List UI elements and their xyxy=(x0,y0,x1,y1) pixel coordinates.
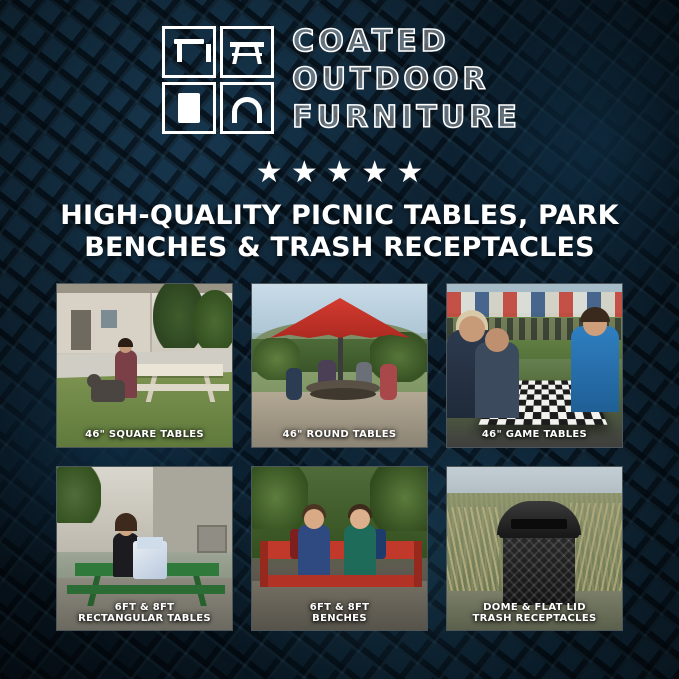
caption-trash-receptacles: DOME & FLAT LID TRASH RECEPTACLES xyxy=(447,597,622,630)
caption-benches-line-1: 6FT & 8FT xyxy=(256,602,423,613)
photo-square-tables xyxy=(57,284,232,447)
caption-rectangular-tables-line-1: 6FT & 8FT xyxy=(61,602,228,613)
product-card-rectangular-tables[interactable]: 6FT & 8FT RECTANGULAR TABLES xyxy=(56,466,233,631)
marketing-poster: COATED OUTDOOR FURNITURE ★ ★ ★ ★ ★ HIGH-… xyxy=(0,0,679,679)
product-card-benches[interactable]: 6FT & 8FT BENCHES xyxy=(251,466,428,631)
headline-line-2: BENCHES & TRASH RECEPTACLES xyxy=(40,232,639,264)
caption-trash-receptacles-line-1: DOME & FLAT LID xyxy=(451,602,618,613)
logo-line-2: OUTDOOR xyxy=(292,62,521,98)
star-rating: ★ ★ ★ ★ ★ xyxy=(0,158,679,188)
product-card-game-tables[interactable]: 46" GAME TABLES xyxy=(446,283,623,448)
headline-line-1: HIGH-QUALITY PICNIC TABLES, PARK xyxy=(60,200,619,231)
caption-square-tables: 46" SQUARE TABLES xyxy=(57,424,232,447)
photo-game-tables xyxy=(447,284,622,447)
caption-round-tables: 46" ROUND TABLES xyxy=(252,424,427,447)
photo-round-tables xyxy=(252,284,427,447)
trash-can-icon xyxy=(162,82,216,134)
logo-line-3: FURNITURE xyxy=(292,100,521,136)
brand-logo: COATED OUTDOOR FURNITURE xyxy=(0,24,679,136)
product-card-square-tables[interactable]: 46" SQUARE TABLES xyxy=(56,283,233,448)
logo-wordmark: COATED OUTDOOR FURNITURE xyxy=(292,24,521,136)
caption-benches: 6FT & 8FT BENCHES xyxy=(252,597,427,630)
caption-rectangular-tables-line-2: RECTANGULAR TABLES xyxy=(61,613,228,624)
bench-icon xyxy=(162,26,216,78)
product-card-trash-receptacles[interactable]: DOME & FLAT LID TRASH RECEPTACLES xyxy=(446,466,623,631)
caption-trash-receptacles-line-2: TRASH RECEPTACLES xyxy=(451,613,618,624)
arch-icon xyxy=(220,82,274,134)
logo-line-1: COATED xyxy=(292,24,521,60)
caption-benches-line-2: BENCHES xyxy=(256,613,423,624)
picnic-table-icon xyxy=(220,26,274,78)
headline: HIGH-QUALITY PICNIC TABLES, PARK BENCHES… xyxy=(40,200,639,264)
logo-mark xyxy=(158,24,278,136)
caption-game-tables: 46" GAME TABLES xyxy=(447,424,622,447)
caption-rectangular-tables: 6FT & 8FT RECTANGULAR TABLES xyxy=(57,597,232,630)
product-grid: 46" SQUARE TABLES 46" ROUND TABLES xyxy=(56,283,623,631)
product-card-round-tables[interactable]: 46" ROUND TABLES xyxy=(251,283,428,448)
